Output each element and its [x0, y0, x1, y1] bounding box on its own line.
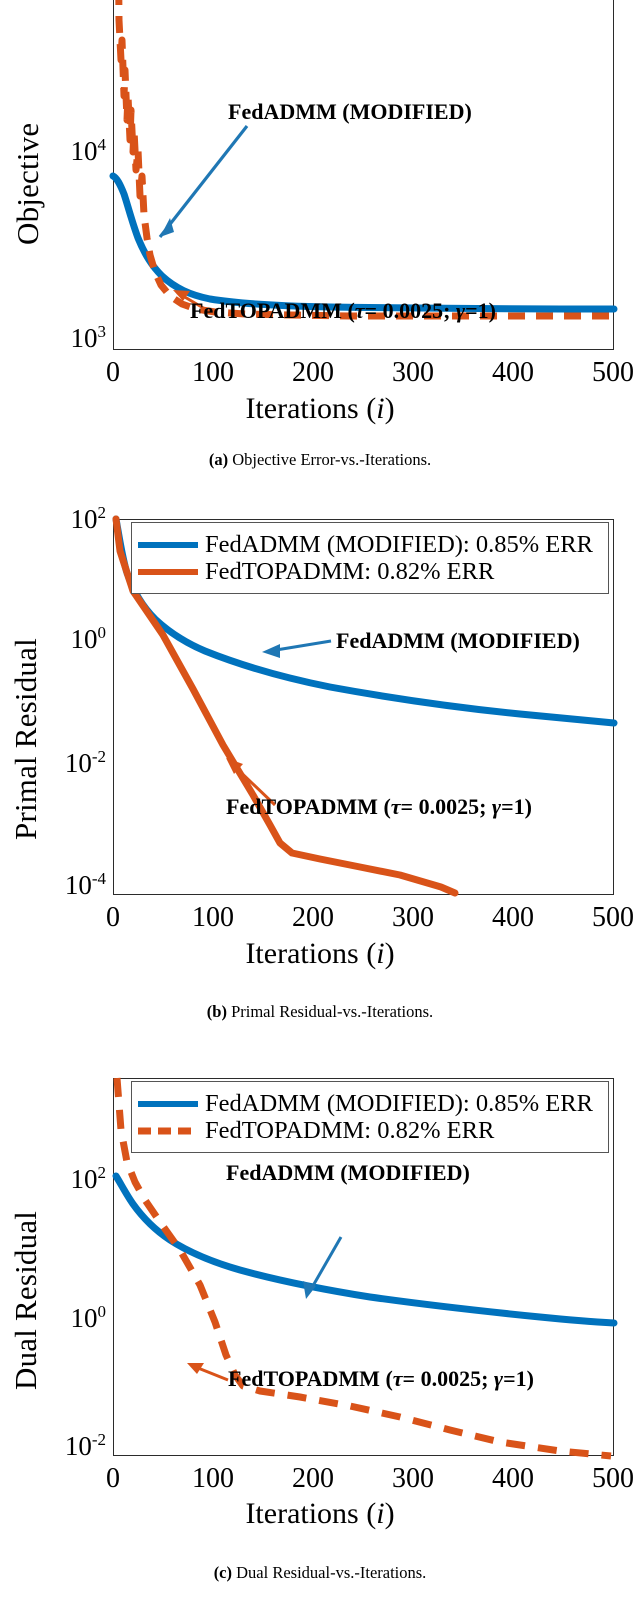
caption-tag-c: (c)	[214, 1563, 232, 1582]
x-tick-b-1: 100	[173, 902, 253, 934]
x-tick-c-2: 200	[273, 1463, 353, 1495]
legend-item-c-0: FedADMM (MODIFIED): 0.85% ERR	[138, 1090, 602, 1117]
x-tick-c-0: 0	[73, 1463, 153, 1495]
x-tick-b-5: 500	[573, 902, 640, 934]
x-tick-b-0: 0	[73, 902, 153, 934]
x-tick-c-1: 100	[173, 1463, 253, 1495]
panel-primal-residual: Primal Residual 102 100 10-2 10-4 FedADM…	[0, 505, 640, 1035]
annotation-arrowhead-blue-b	[262, 644, 280, 658]
caption-text-b: Primal Residual-vs.-Iterations.	[231, 1002, 433, 1021]
x-tick-c-4: 400	[473, 1463, 553, 1495]
panel-objective: Objective 104 103 FedADMM (MODIFIED): 0.…	[0, 0, 640, 480]
x-tick-b-3: 300	[373, 902, 453, 934]
curve-fedtopadmm-a	[118, 0, 614, 316]
x-tick-a-4: 400	[473, 357, 553, 389]
legend-item-b-0: FedADMM (MODIFIED): 0.85% ERR	[138, 531, 602, 558]
annotation-fedtopadmm-b: FedTOPADMM (τ= 0.0025; γ=1)	[226, 794, 532, 820]
annotation-arrow-blue-a	[160, 126, 247, 237]
caption-b: (b) Primal Residual-vs.-Iterations.	[0, 1002, 640, 1022]
x-tick-c-5: 500	[573, 1463, 640, 1495]
legend-swatch-fedtopadmm-c	[138, 1127, 198, 1135]
annotation-fedadmm-a: FedADMM (MODIFIED)	[228, 99, 472, 125]
caption-text-c: Dual Residual-vs.-Iterations.	[236, 1563, 426, 1582]
legend-item-c-1: FedTOPADMM: 0.82% ERR	[138, 1117, 602, 1144]
legend-item-b-1: FedTOPADMM: 0.82% ERR	[138, 558, 602, 585]
x-axis-label-a: Iterations (i)	[0, 392, 640, 426]
caption-c: (c) Dual Residual-vs.-Iterations.	[0, 1563, 640, 1583]
x-tick-a-3: 300	[373, 357, 453, 389]
x-tick-b-4: 400	[473, 902, 553, 934]
annotation-fedtopadmm-c: FedTOPADMM (τ= 0.0025; γ=1)	[228, 1366, 534, 1392]
legend-swatch-fedadmm-b	[138, 542, 198, 548]
legend-b: FedADMM (MODIFIED): 0.85% ERR FedTOPADMM…	[131, 522, 609, 594]
annotation-fedadmm-c: FedADMM (MODIFIED)	[226, 1160, 470, 1186]
legend-swatch-fedadmm-c	[138, 1101, 198, 1107]
x-tick-a-1: 100	[173, 357, 253, 389]
legend-label-b-0: FedADMM (MODIFIED): 0.85% ERR	[205, 531, 593, 559]
x-tick-a-5: 500	[573, 357, 640, 389]
x-tick-a-0: 0	[73, 357, 153, 389]
legend-label-c-1: FedTOPADMM: 0.82% ERR	[205, 1117, 494, 1145]
legend-label-c-0: FedADMM (MODIFIED): 0.85% ERR	[205, 1090, 593, 1118]
caption-tag-b: (b)	[207, 1002, 227, 1021]
curve-fedadmm-c	[116, 1176, 614, 1323]
x-tick-c-3: 300	[373, 1463, 453, 1495]
annotation-fedtopadmm-a: FedTOPADMM (τ= 0.0025; γ=1)	[190, 298, 496, 324]
panel-dual-residual: Dual Residual 102 100 10-2 FedADMM (MODI…	[0, 1070, 640, 1601]
caption-a: (a) Objective Error-vs.-Iterations.	[0, 450, 640, 470]
legend-label-b-1: FedTOPADMM: 0.82% ERR	[205, 558, 494, 586]
x-axis-label-c: Iterations (i)	[0, 1497, 640, 1531]
annotation-arrow-blue-c	[310, 1237, 341, 1291]
figure-convergence-plots: Objective 104 103 FedADMM (MODIFIED): 0.…	[0, 0, 640, 1601]
x-tick-b-2: 200	[273, 902, 353, 934]
annotation-fedadmm-b: FedADMM (MODIFIED)	[336, 628, 580, 654]
x-tick-a-2: 200	[273, 357, 353, 389]
legend-c: FedADMM (MODIFIED): 0.85% ERR FedTOPADMM…	[131, 1081, 609, 1153]
caption-text-a: Objective Error-vs.-Iterations.	[232, 450, 431, 469]
caption-tag-a: (a)	[209, 450, 228, 469]
x-axis-label-b: Iterations (i)	[0, 937, 640, 971]
legend-swatch-fedtopadmm-b	[138, 569, 198, 575]
curve-fedadmm-a	[113, 176, 614, 309]
